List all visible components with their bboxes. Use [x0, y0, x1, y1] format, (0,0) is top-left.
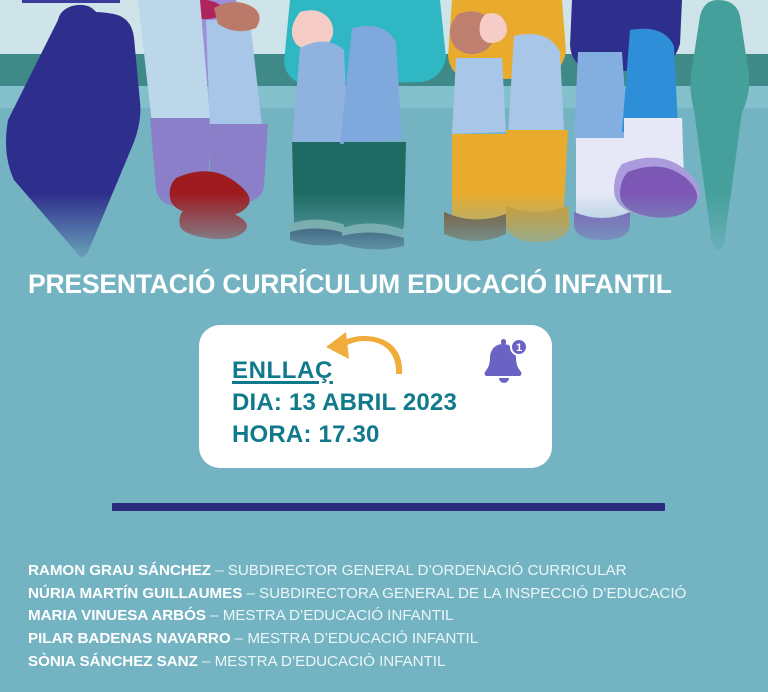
speaker-separator: –	[206, 607, 223, 624]
event-info-card: ENLLAÇ DIA: 13 ABRIL 2023 HORA: 17.30 1	[199, 325, 552, 468]
speaker-name: RAMON GRAU SÁNCHEZ	[28, 562, 211, 579]
speaker-name: SÒNIA SÁNCHEZ SANZ	[28, 653, 198, 670]
list-item: PILAR BADENAS NAVARRO – MESTRA D’EDUCACI…	[28, 628, 758, 651]
list-item: MARIA VINUESA ARBÓS – MESTRA D’EDUCACIÓ …	[28, 605, 758, 628]
list-item: SÒNIA SÁNCHEZ SANZ – MESTRA D’EDUCACIÓ I…	[28, 651, 758, 674]
top-edge-rule	[22, 0, 120, 3]
speaker-separator: –	[198, 653, 215, 670]
speaker-name: PILAR BADENAS NAVARRO	[28, 630, 231, 647]
speaker-separator: –	[242, 585, 259, 602]
speaker-name: MARIA VINUESA ARBÓS	[28, 607, 206, 624]
speaker-role: MESTRA D’EDUCACIÓ INFANTIL	[247, 630, 478, 647]
poster-root: PRESENTACIÓ CURRÍCULUM EDUCACIÓ INFANTIL…	[0, 0, 768, 692]
notification-bell-icon[interactable]: 1	[480, 338, 528, 384]
enllac-link[interactable]: ENLLAÇ	[232, 355, 333, 387]
event-date-line: DIA: 13 ABRIL 2023	[232, 387, 552, 419]
page-title: PRESENTACIÓ CURRÍCULUM EDUCACIÓ INFANTIL	[0, 271, 672, 298]
children-legs-illustration	[0, 0, 768, 268]
speakers-list: RAMON GRAU SÁNCHEZ – SUBDIRECTOR GENERAL…	[28, 560, 758, 673]
speaker-role: SUBDIRECTORA GENERAL DE LA INSPECCIÓ D’E…	[259, 585, 686, 602]
section-divider	[112, 503, 665, 511]
list-item: NÚRIA MARTÍN GUILLAUMES – SUBDIRECTORA G…	[28, 583, 758, 606]
speaker-role: MESTRA D’EDUCACIÓ INFANTIL	[223, 607, 454, 624]
speaker-role: SUBDIRECTOR GENERAL D’ORDENACIÓ CURRICUL…	[228, 562, 627, 579]
event-time-line: HORA: 17.30	[232, 419, 552, 451]
speaker-separator: –	[211, 562, 228, 579]
title-band: PRESENTACIÓ CURRÍCULUM EDUCACIÓ INFANTIL	[0, 262, 768, 306]
bell-badge-count: 1	[516, 342, 522, 354]
speaker-role: MESTRA D’EDUCACIÓ INFANTIL	[215, 653, 446, 670]
speaker-separator: –	[231, 630, 248, 647]
speaker-name: NÚRIA MARTÍN GUILLAUMES	[28, 585, 242, 602]
event-info-card-inner: ENLLAÇ DIA: 13 ABRIL 2023 HORA: 17.30 1	[199, 325, 552, 468]
list-item: RAMON GRAU SÁNCHEZ – SUBDIRECTOR GENERAL…	[28, 560, 758, 583]
